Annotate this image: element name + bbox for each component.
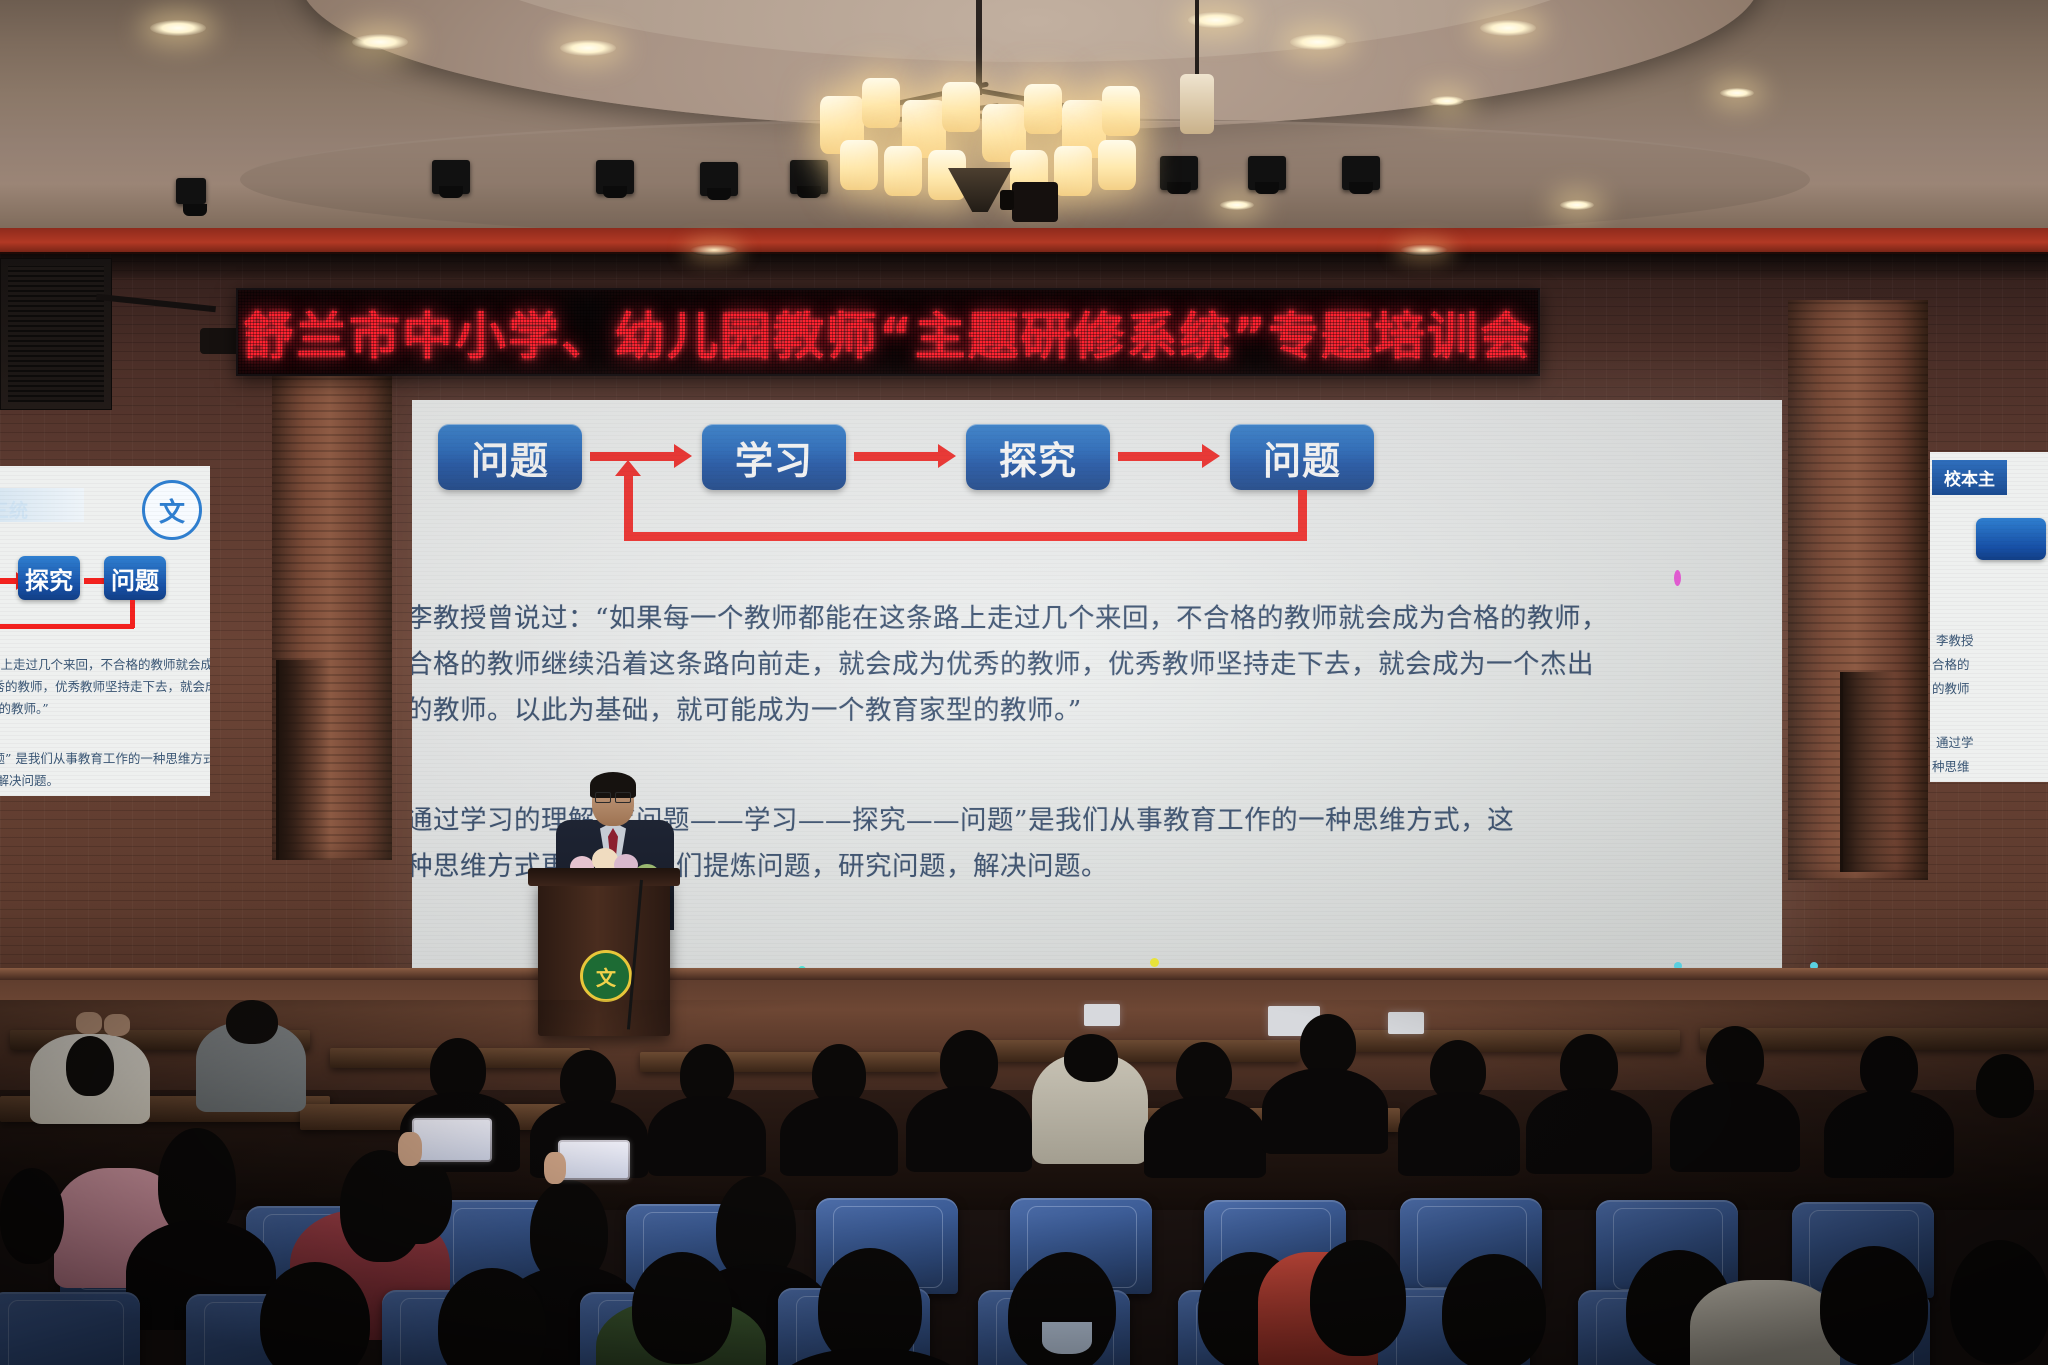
- audience-laptop: [1388, 1012, 1424, 1034]
- audience-desk: [960, 1040, 1300, 1062]
- ceiling-downlight: [1220, 200, 1254, 210]
- flow-node-3: 问题: [1230, 424, 1374, 490]
- seat: [0, 1292, 140, 1365]
- left-screen-line-3: 问题” 是我们从事教育工作的一种思维方式，这: [0, 748, 210, 767]
- audience-head: [1310, 1240, 1406, 1356]
- led-banner: 舒兰市中小学、幼儿园教师“主题研修系统”专题培训会: [236, 288, 1540, 376]
- audience-shoulders: [648, 1096, 766, 1176]
- flow-loop-up: [624, 474, 633, 536]
- slide-paragraph-0: 李教授曾说过：“如果每一个教师都能在这条路上走过几个来回，不合格的教师就会成为合…: [412, 596, 1782, 642]
- left-screen-line-1: 优秀的教师，优秀教师坚持走下去，就会成为一个杰出: [0, 676, 210, 695]
- left-screen-logo: 文: [142, 480, 202, 540]
- slide-paragraph-1: 合格的教师继续沿着这条路向前走，就会成为优秀的教师，优秀教师坚持走下去，就会成为…: [412, 642, 1782, 688]
- audience-area: [0, 1000, 2048, 1365]
- auditorium-scene: 舒兰市中小学、幼儿园教师“主题研修系统”专题培训会 三统 文 探究 问题 路上走…: [0, 0, 2048, 1365]
- audience-hand: [76, 1012, 102, 1034]
- ceiling-downlight: [150, 20, 206, 36]
- left-screen-header: 三统: [0, 496, 28, 523]
- slide-paragraph-2: 的教师。以此为基础，就可能成为一个教育家型的教师。”: [412, 688, 1782, 734]
- audience-shoulders: [1144, 1096, 1266, 1178]
- wall-red-accent-band: [0, 228, 2048, 254]
- ceiling-spot-fixture: [432, 160, 470, 194]
- ceiling-downlight: [1480, 20, 1536, 36]
- ceiling-downlight: [1720, 88, 1754, 98]
- screen-reflection-dot: [1674, 570, 1681, 586]
- audience-phone[interactable]: [412, 1118, 492, 1162]
- ceiling-downlight: [1430, 96, 1464, 106]
- audience-head: [1820, 1246, 1928, 1365]
- audience-laptop: [1084, 1004, 1120, 1026]
- left-screen-line-4: ，解决问题。: [0, 770, 59, 789]
- right-screen-line-4: 种思维: [1932, 756, 1970, 775]
- led-banner-text: 舒兰市中小学、幼儿园教师“主题研修系统”专题培训会: [243, 295, 1533, 369]
- flow-node-2: 探究: [966, 424, 1110, 490]
- screen-reflection-dot: [1150, 958, 1159, 967]
- flow-node-1: 学习: [702, 424, 846, 490]
- audience-head: [1064, 1034, 1118, 1082]
- ceiling-spot-fixture: [1342, 156, 1380, 190]
- audience-head: [632, 1252, 732, 1364]
- left-screen-line-0: 路上走过几个来回，不合格的教师就会成为合格的教师，: [0, 654, 210, 673]
- audience-head: [226, 1000, 278, 1044]
- ceiling-downlight: [352, 34, 408, 50]
- right-screen-line-2: 的教师: [1932, 678, 1970, 697]
- ceiling-spot-fixture: [176, 178, 206, 204]
- audience-head: [382, 1152, 452, 1244]
- right-screen-node: [1976, 518, 2046, 560]
- audience-hand: [104, 1014, 130, 1036]
- ceiling-downlight: [1560, 200, 1594, 210]
- audience-head: [1976, 1054, 2034, 1118]
- ceiling-spot-fixture: [1248, 156, 1286, 190]
- audience-shoulders: [906, 1086, 1032, 1172]
- camera-rig: [1012, 182, 1058, 222]
- audience-face-mask: [1042, 1322, 1092, 1354]
- audience-hand: [398, 1132, 422, 1166]
- right-screen-line-0: 李教授: [1936, 630, 1974, 649]
- side-screen-right: 校本主 李教授 合格的 的教师 通过学 种思维: [1930, 452, 2048, 782]
- ceiling-spot-fixture: [700, 162, 738, 196]
- left-screen-node-1: 问题: [104, 556, 166, 600]
- side-screen-left: 三统 文 探究 问题 路上走过几个来回，不合格的教师就会成为合格的教师， 优秀的…: [0, 466, 210, 796]
- audience-shoulders: [1670, 1082, 1800, 1172]
- chandelier: [810, 0, 1150, 230]
- wall-speaker-left: [0, 258, 112, 410]
- audience-shoulders: [1398, 1092, 1520, 1176]
- audience-shoulders: [1526, 1088, 1652, 1174]
- stage-door-left[interactable]: [276, 660, 331, 860]
- flow-loop-bottom: [624, 532, 1307, 541]
- ceiling-spot-fixture: [596, 160, 634, 194]
- left-screen-line-2: 型的教师。”: [0, 698, 49, 717]
- audience-head: [1442, 1254, 1546, 1365]
- podium-emblem: 文: [580, 950, 632, 1002]
- ceiling-downlight: [560, 40, 616, 56]
- right-screen-line-3: 通过学: [1936, 732, 1974, 751]
- audience-phone[interactable]: [558, 1140, 630, 1180]
- audience-desk: [1320, 1030, 1680, 1052]
- ceiling-downlight: [1290, 34, 1346, 50]
- audience-shoulders: [780, 1096, 898, 1176]
- audience-hand: [544, 1152, 566, 1184]
- flow-diagram: 问题 学习 探究 问题: [412, 400, 1782, 550]
- right-screen-title: 校本主: [1932, 460, 2007, 495]
- audience-shoulders: [1262, 1068, 1388, 1154]
- audience-head: [0, 1168, 64, 1264]
- wall-uplight: [690, 244, 738, 256]
- audience-head: [1300, 1014, 1356, 1076]
- stage-door-right[interactable]: [1840, 672, 1895, 872]
- presenter-glasses: [595, 792, 631, 801]
- audience-shoulders: [1824, 1090, 1954, 1178]
- audience-person-coat: [1690, 1280, 1840, 1365]
- right-screen-line-1: 合格的: [1932, 654, 1970, 673]
- ceiling-spot-fixture: [1160, 156, 1198, 190]
- wall-shadow-band: [0, 252, 2048, 278]
- audience-head: [1950, 1240, 2048, 1364]
- audience-head: [66, 1036, 114, 1096]
- left-screen-node-0: 探究: [18, 556, 80, 600]
- wall-uplight: [1400, 244, 1448, 256]
- flow-node-0: 问题: [438, 424, 582, 490]
- pendant-light: [1180, 0, 1214, 150]
